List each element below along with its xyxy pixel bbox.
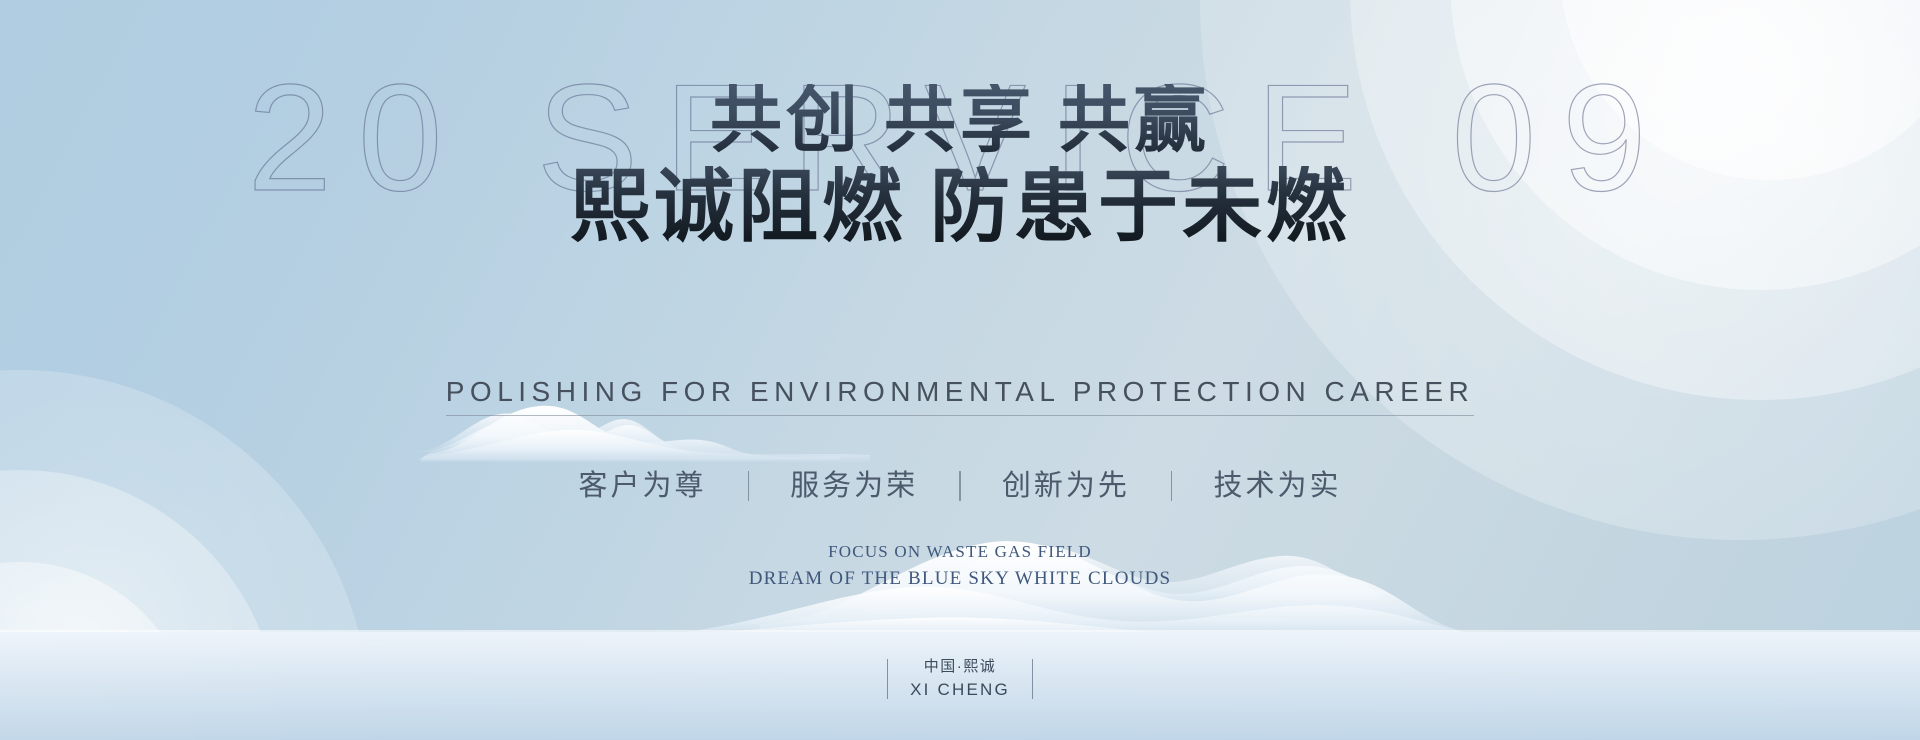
logo-rule-left [887, 659, 889, 699]
value-item-4: 技术为实 [1213, 462, 1341, 504]
serif-couplet: FOCUS ON WASTE GAS FIELD DREAM OF THE BL… [0, 540, 1920, 592]
logo-text-stack: 中国·熙诚 XI CHENG [910, 656, 1010, 702]
headline-line-2: 熙诚阻燃 防患于未燃 [0, 166, 1920, 250]
value-item-3: 创新为先 [1002, 462, 1130, 504]
couplet-line-1: FOCUS ON WASTE GAS FIELD [0, 540, 1920, 565]
value-item-1: 客户为尊 [579, 462, 707, 504]
value-separator-2 [959, 471, 961, 501]
value-separator-3 [1171, 471, 1173, 501]
headline-block: 共创 共享 共赢 熙诚阻燃 防患于未燃 [0, 84, 1920, 250]
couplet-line-2: DREAM OF THE BLUE SKY WHITE CLOUDS [0, 565, 1920, 593]
promotional-banner: 20 SERVICE 09 [0, 0, 1920, 740]
logo-english: XI CHENG [910, 678, 1010, 702]
english-tagline: POLISHING FOR ENVIRONMENTAL PROTECTION C… [0, 376, 1920, 416]
headline-line-1: 共创 共享 共赢 [0, 84, 1920, 160]
english-tagline-text: POLISHING FOR ENVIRONMENTAL PROTECTION C… [446, 376, 1474, 416]
value-item-2: 服务为荣 [790, 462, 918, 504]
logo-rule-right [1032, 659, 1034, 699]
value-row: 客户为尊 服务为荣 创新为先 技术为实 [0, 462, 1920, 504]
value-separator-1 [748, 471, 750, 501]
brand-logo: 中国·熙诚 XI CHENG [0, 656, 1920, 702]
logo-chinese: 中国·熙诚 [910, 656, 1010, 679]
